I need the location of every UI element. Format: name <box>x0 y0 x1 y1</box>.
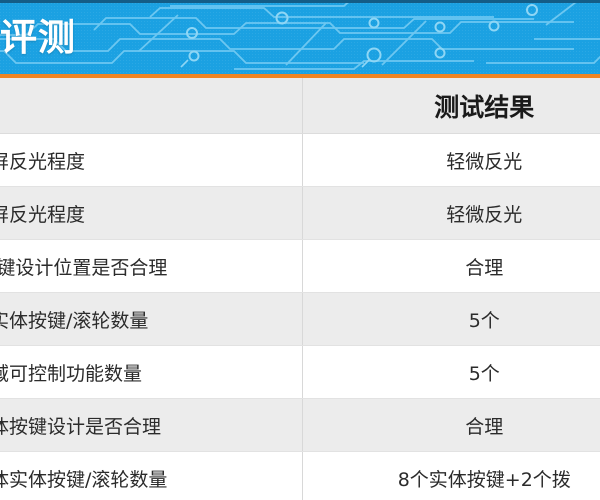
cell-item: 中控屏反光程度 <box>0 134 302 187</box>
hardware-test-table: 项目 测试结果 中控屏反光程度 轻微反光 液晶屏反光程度 轻微反光 钮/按键设计… <box>0 78 600 500</box>
table-header: 项目 测试结果 <box>0 78 600 134</box>
cell-result: 8个实体按键+2个拨 <box>302 452 600 500</box>
table-body: 中控屏反光程度 轻微反光 液晶屏反光程度 轻微反光 钮/按键设计位置是否合理 合… <box>0 134 600 500</box>
cell-item: 区域实体按键/滚轮数量 <box>0 293 302 346</box>
column-header-result: 测试结果 <box>302 78 600 134</box>
cell-result: 合理 <box>302 240 600 293</box>
table-header-row: 项目 测试结果 <box>0 78 600 134</box>
page-title: 件评测 <box>0 9 76 67</box>
page-banner: 件评测 <box>0 0 600 74</box>
column-header-item: 项目 <box>0 78 302 134</box>
page-content: 件评测 项目 测试结果 中控屏反光程度 轻微反光 液晶屏反光程 <box>0 0 600 500</box>
table-row: 体区域可控制功能数量 5个 <box>0 346 600 399</box>
circuit-board-pattern-icon <box>0 3 600 74</box>
table-row: 钮/按键设计位置是否合理 合理 <box>0 240 600 293</box>
table-row: 多媒体按键设计是否合理 合理 <box>0 399 600 452</box>
cell-result: 轻微反光 <box>302 134 600 187</box>
cell-item: 液晶屏反光程度 <box>0 187 302 240</box>
cell-result: 5个 <box>302 293 600 346</box>
table-row: 中控屏反光程度 轻微反光 <box>0 134 600 187</box>
screenshot-viewport: 件评测 项目 测试结果 中控屏反光程度 轻微反光 液晶屏反光程 <box>0 0 600 500</box>
cell-result: 合理 <box>302 399 600 452</box>
cell-result: 5个 <box>302 346 600 399</box>
table-row: 液晶屏反光程度 轻微反光 <box>0 187 600 240</box>
table-row: 多媒体实体按键/滚轮数量 8个实体按键+2个拨 <box>0 452 600 500</box>
table-row: 区域实体按键/滚轮数量 5个 <box>0 293 600 346</box>
cell-result: 轻微反光 <box>302 187 600 240</box>
cell-item: 钮/按键设计位置是否合理 <box>0 240 302 293</box>
cell-item: 体区域可控制功能数量 <box>0 346 302 399</box>
cell-item: 多媒体实体按键/滚轮数量 <box>0 452 302 500</box>
cell-item: 多媒体按键设计是否合理 <box>0 399 302 452</box>
